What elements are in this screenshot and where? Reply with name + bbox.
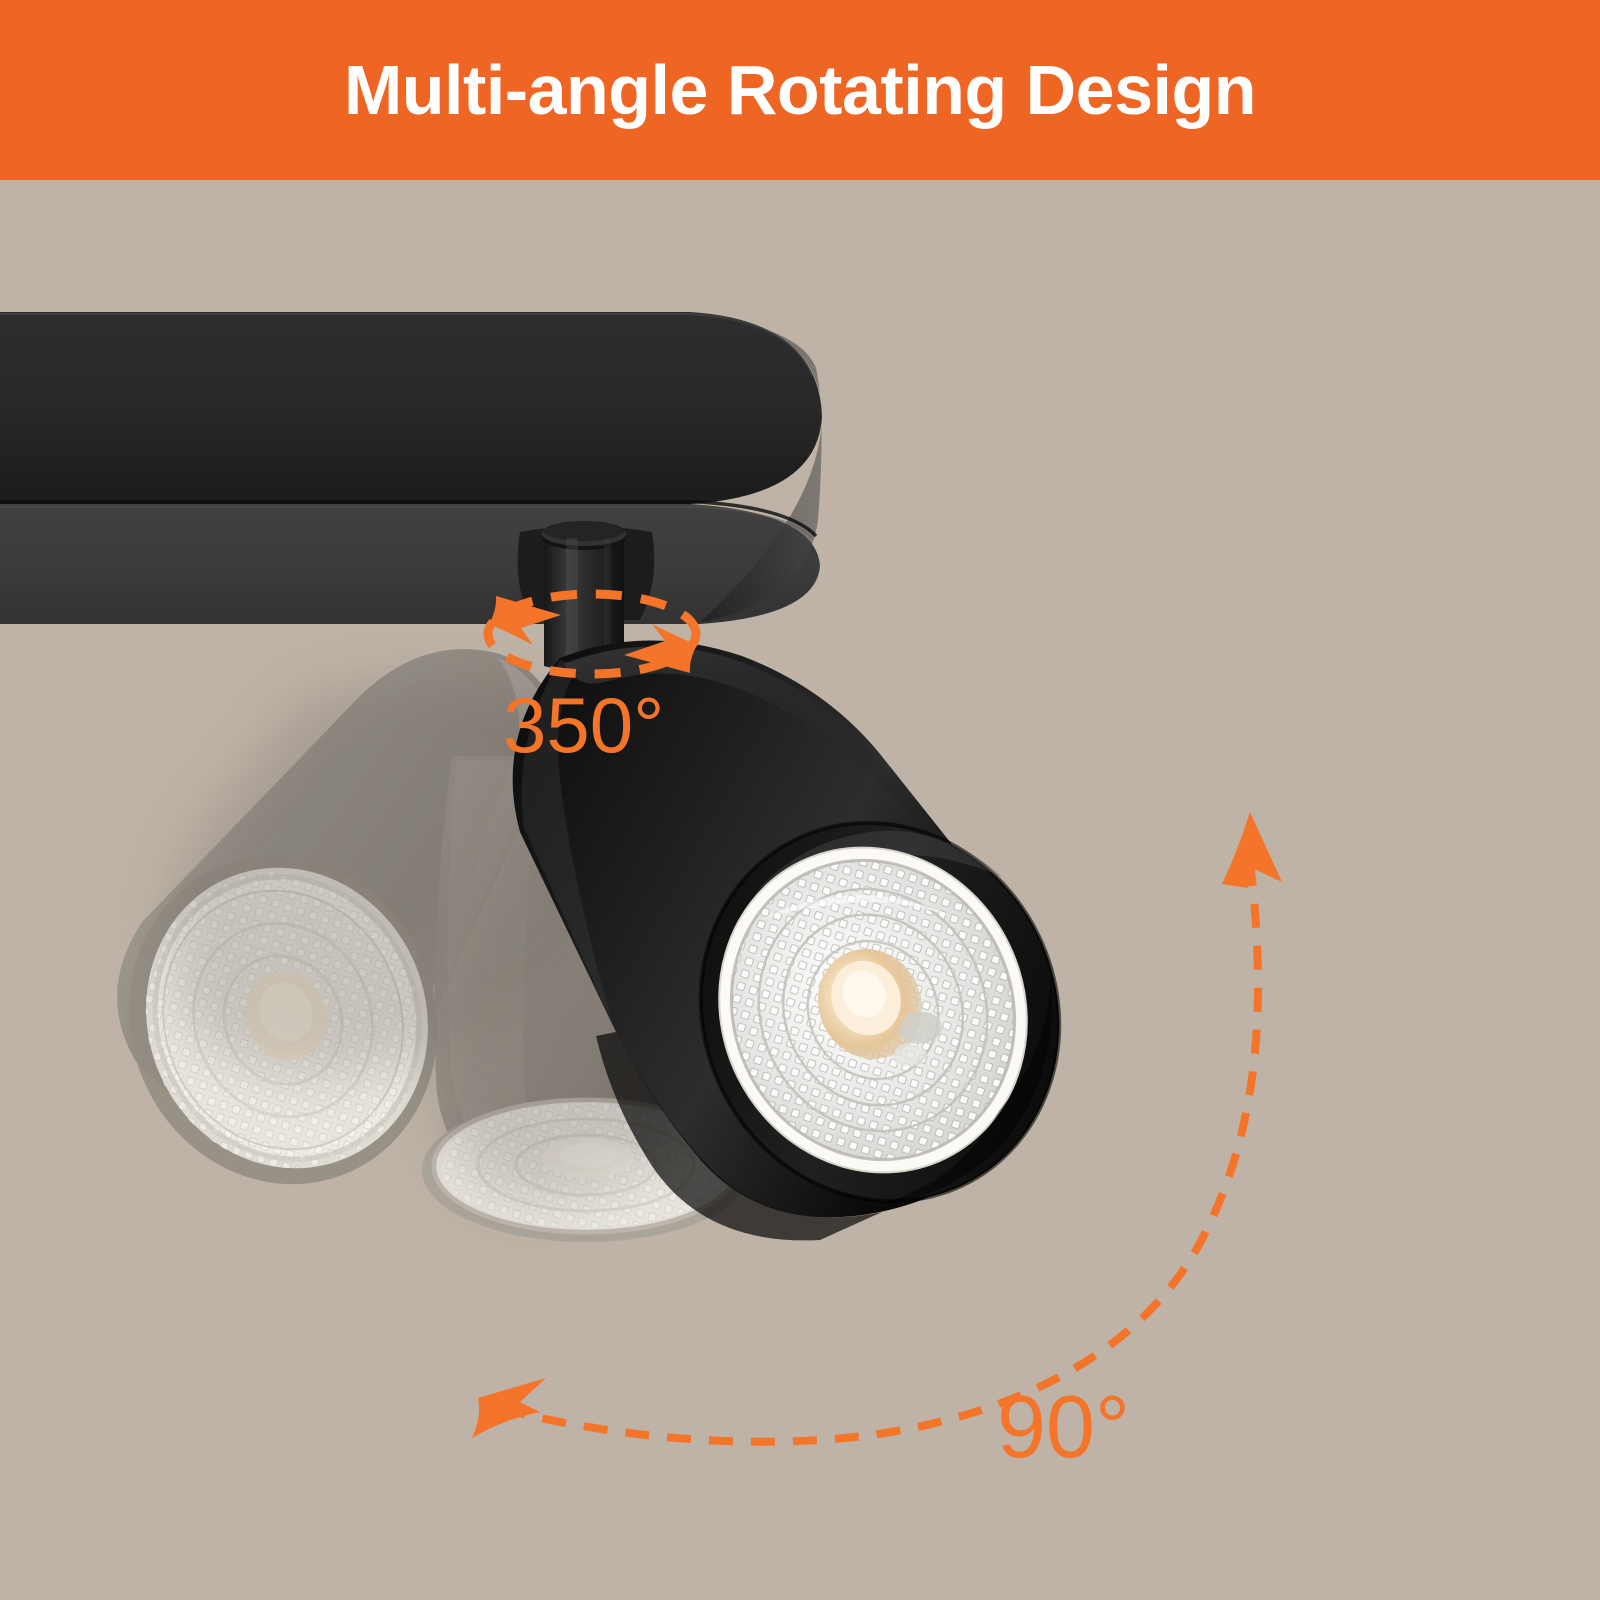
rotation-90-label: 90° bbox=[997, 1383, 1130, 1471]
mounting-bar bbox=[0, 312, 822, 650]
rotation-350-label: 350° bbox=[503, 686, 664, 764]
product-feature-image: .dash { stroke:#F4742A; stroke-width:9; … bbox=[0, 0, 1600, 1600]
header-banner: Multi-angle Rotating Design bbox=[0, 0, 1600, 180]
product-illustration bbox=[0, 180, 1600, 1600]
product-photo bbox=[0, 180, 1600, 1600]
page-title: Multi-angle Rotating Design bbox=[0, 0, 1600, 180]
